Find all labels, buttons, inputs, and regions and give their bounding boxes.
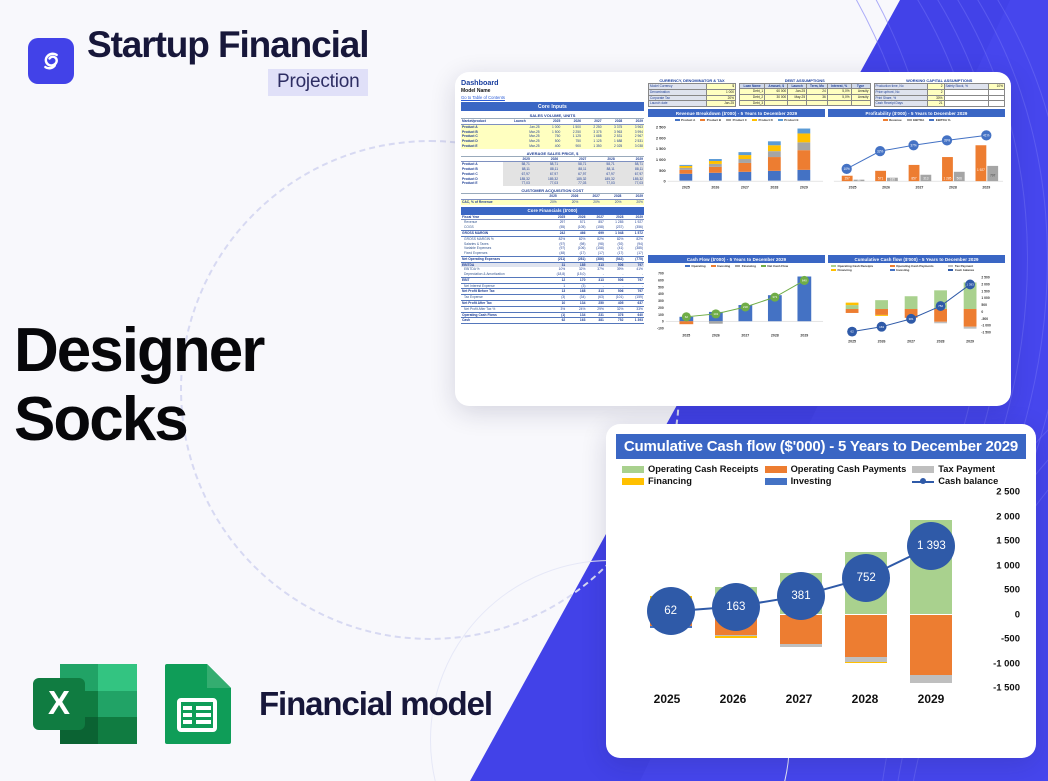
x-tick-label: 2027 [766, 692, 832, 706]
y-tick: 1 500 [966, 536, 1020, 547]
svg-text:62: 62 [850, 330, 854, 334]
svg-text:10%: 10% [844, 167, 850, 171]
microsoft-excel-icon: X [31, 662, 139, 746]
chart-legend: Operating Cash Receipts Operating Cash P… [616, 459, 1026, 490]
y-tick: 1 000 [966, 560, 1020, 571]
legend-item-tax-payment: Tax Payment [912, 464, 1020, 474]
svg-text:500: 500 [981, 303, 987, 307]
svg-text:313: 313 [923, 177, 928, 181]
table-row: Product E77,0377,0377,0377,0377,03 [461, 181, 644, 186]
dashboard-title: Dashboard [461, 78, 644, 87]
y-tick: 500 [966, 585, 1020, 596]
y-tick: 0 [966, 609, 1020, 620]
data-point-bubble: 381 [777, 572, 825, 620]
data-point-bubble: 752 [842, 554, 890, 602]
legend-label: Financing [648, 476, 692, 486]
svg-text:-1 000: -1 000 [981, 324, 991, 328]
dashboard-right-column: CURRENCY, DENOMINATOR & TAX Model Curren… [648, 78, 1005, 402]
svg-text:381: 381 [909, 317, 914, 321]
svg-text:371: 371 [772, 295, 777, 299]
y-tick: 2 000 [966, 511, 1020, 522]
svg-text:2029: 2029 [800, 186, 808, 190]
legend-item-operating-cash-payments: Operating Cash Payments [765, 464, 907, 474]
table-row: Launch dateJan-25 [649, 101, 736, 107]
plot-inner: 621633817521 393 [638, 492, 964, 688]
chart-plot-area: 2 5002 0001 5001 0005000-500-1 000-1 500… [620, 492, 1026, 688]
svg-text:62: 62 [685, 315, 689, 319]
svg-text:2 500: 2 500 [656, 125, 667, 130]
svg-text:2025: 2025 [682, 186, 690, 190]
svg-text:41%: 41% [983, 134, 989, 138]
legend-item-cash-balance: Cash balance [912, 476, 1020, 486]
table-row: Cash Receipt Days21 [874, 101, 1005, 107]
svg-text:39%: 39% [944, 139, 950, 143]
svg-text:37%: 37% [910, 144, 916, 148]
working-capital-assumptions: WORKING CAPITAL ASSUMPTIONS Production t… [874, 78, 1006, 107]
legend-label: Cash balance [938, 476, 998, 486]
x-axis-labels: 20252026202720282029 [634, 692, 1026, 706]
svg-text:506: 506 [957, 177, 962, 181]
google-sheets-icon [161, 662, 233, 746]
sales-volume-table: Market/product Launch 2025 2026 2027 202… [461, 119, 644, 149]
svg-text:2026: 2026 [878, 340, 886, 344]
page-title-line2: Socks [14, 385, 263, 454]
y-tick: -1 500 [966, 683, 1020, 694]
svg-text:2028: 2028 [949, 186, 957, 190]
legend-label: Operating Cash Receipts [648, 464, 759, 474]
svg-text:2028: 2028 [771, 334, 779, 338]
svg-text:2029: 2029 [966, 340, 974, 344]
sheets-glyph [161, 662, 233, 746]
x-tick-label: 2026 [700, 692, 766, 706]
page-title-line1: Designer [14, 316, 263, 385]
svg-text:1 927: 1 927 [977, 168, 985, 172]
table-of-contents-link[interactable]: Go to Table of Contents [461, 95, 644, 100]
revenue-breakdown-plot: 2 5002 0001 500 1 0005000 [648, 123, 825, 197]
svg-text:600: 600 [658, 279, 664, 283]
svg-text:2025: 2025 [848, 340, 856, 344]
svg-text:2 000: 2 000 [656, 136, 667, 141]
dashboard-screenshot-card[interactable]: Dashboard Model Name Go to Table of Cont… [455, 72, 1011, 406]
chart-title: Cumulative Cash flow ($'000) - 5 Years t… [616, 434, 1026, 459]
svg-text:300: 300 [658, 299, 664, 303]
assumptions-row: CURRENCY, DENOMINATOR & TAX Model Curren… [648, 78, 1005, 107]
legend-label: Investing [791, 476, 832, 486]
svg-text:752: 752 [938, 304, 943, 308]
legend-item-operating-cash-receipts: Operating Cash Receipts [622, 464, 759, 474]
svg-text:100: 100 [658, 313, 664, 317]
table-row: CAC, % of Revenue20%20%20%20%20% [461, 199, 644, 204]
mini-chart-revenue-breakdown: Revenue Breakdown ($'000) - 5 Years to D… [648, 109, 825, 252]
excel-glyph: X [31, 662, 139, 746]
svg-text:2026: 2026 [712, 334, 720, 338]
legend-label: Operating Cash Payments [791, 464, 907, 474]
svg-text:1 285: 1 285 [944, 177, 952, 181]
svg-text:0: 0 [664, 179, 667, 184]
x-tick-label: 2028 [832, 692, 898, 706]
mini-chart-cash-flow: Cash Flow ($'000) - 5 Years to December … [648, 255, 825, 402]
avg-price-table: 2025 2026 2027 2028 2029 Product A58,715… [461, 157, 644, 187]
debt-assumptions: DEBT ASSUMPTIONS Loan Name Amount, $ Lau… [739, 78, 871, 107]
cumulative-cash-flow-plot: 2 5002 0001 500 1 0005000 -500-1 000-1 5… [828, 273, 1005, 347]
table-row: Cash621633817521 393 [461, 318, 644, 324]
infinity-swirl-icon [28, 38, 74, 84]
svg-text:1 393: 1 393 [966, 283, 974, 287]
brand-logo: Startup Financial Projection [28, 26, 368, 96]
cac-table: 2025 2026 2027 2028 2029 CAC, % of Reven… [461, 194, 644, 205]
svg-text:1 500: 1 500 [981, 289, 989, 293]
svg-text:101: 101 [713, 312, 718, 316]
currency-assumptions: CURRENCY, DENOMINATOR & TAX Model Curren… [648, 78, 736, 107]
y-tick: 2 500 [966, 487, 1020, 498]
svg-text:700: 700 [658, 272, 664, 276]
svg-text:2026: 2026 [882, 186, 890, 190]
core-financials-band: Core Financials ($'000) [461, 207, 644, 215]
svg-text:500: 500 [659, 168, 666, 173]
svg-text:2 500: 2 500 [981, 276, 989, 280]
brand-subtitle: Projection [268, 69, 369, 96]
core-inputs-band: Core Inputs [461, 102, 644, 111]
x-tick-label: 2029 [898, 692, 964, 706]
svg-text:200: 200 [658, 306, 664, 310]
y-tick: -500 [966, 634, 1020, 645]
table-row: Debt_3 [740, 100, 871, 106]
svg-text:857: 857 [911, 177, 916, 181]
working-capital-table: Production time, No2Safety Stock, %10% P… [874, 83, 1006, 107]
svg-text:2 000: 2 000 [981, 283, 989, 287]
svg-text:32%: 32% [877, 150, 883, 154]
x-tick-label: 2025 [634, 692, 700, 706]
page-title: Designer Socks [14, 316, 263, 455]
mini-chart-cumulative-cash-flow: Cumulative Cash flow ($'000) - 5 Years t… [828, 255, 1005, 402]
cumulative-cashflow-chart-card[interactable]: Cumulative Cash flow ($'000) - 5 Years t… [606, 424, 1036, 758]
svg-text:2027: 2027 [741, 334, 749, 338]
core-financials-table: Fiscal Year20252026202720282029Revenue29… [461, 215, 644, 324]
svg-text:640: 640 [802, 279, 807, 283]
svg-text:400: 400 [658, 292, 664, 296]
mini-charts-grid: Revenue Breakdown ($'000) - 5 Years to D… [648, 109, 1005, 402]
svg-text:2027: 2027 [916, 186, 924, 190]
svg-text:X: X [48, 684, 70, 721]
table-row: Product EMar-254009001 3502 0253 038 [461, 144, 644, 149]
dashboard-left-column: Dashboard Model Name Go to Table of Cont… [461, 78, 644, 402]
svg-text:-1 500: -1 500 [981, 331, 991, 335]
y-tick: -1 000 [966, 658, 1020, 669]
mini-legend: Operating Cash Receipts Operating Cash P… [828, 263, 1005, 273]
currency-table: Model Currency$ Denomination1 000 Corpor… [648, 83, 736, 107]
svg-text:1 000: 1 000 [656, 157, 667, 162]
mini-chart-profitability: Profitability ($'000) - 5 Years to Decem… [828, 109, 1005, 252]
svg-text:0: 0 [981, 310, 983, 314]
svg-text:500: 500 [658, 285, 664, 289]
svg-text:2027: 2027 [741, 186, 749, 190]
svg-text:2029: 2029 [800, 334, 808, 338]
profitability-plot: 29731 571185 857313 1 285506 1 927797 [828, 123, 1005, 197]
svg-text:2027: 2027 [907, 340, 915, 344]
svg-text:2028: 2028 [937, 340, 945, 344]
svg-text:797: 797 [990, 174, 995, 178]
svg-text:218: 218 [743, 305, 748, 309]
legend-item-investing: Investing [765, 476, 907, 486]
svg-text:297: 297 [845, 177, 850, 181]
banner-stage: Startup Financial Projection Designer So… [0, 0, 1048, 781]
svg-text:185: 185 [890, 178, 895, 182]
data-point-bubble: 62 [647, 587, 695, 635]
infinity-swirl-glyph [36, 46, 66, 76]
svg-text:2025: 2025 [849, 186, 857, 190]
svg-text:0: 0 [662, 320, 664, 324]
svg-text:-100: -100 [657, 327, 664, 331]
svg-text:2025: 2025 [682, 334, 690, 338]
svg-text:2029: 2029 [982, 186, 990, 190]
brand-title: Startup Financial [87, 26, 368, 64]
dashboard-content: Dashboard Model Name Go to Table of Cont… [461, 78, 1005, 402]
svg-text:2028: 2028 [770, 186, 778, 190]
data-point-bubble: 163 [712, 583, 760, 631]
svg-text:1 500: 1 500 [656, 146, 667, 151]
footer-label: Financial model [259, 685, 492, 723]
legend-label: Tax Payment [938, 464, 995, 474]
cash-flow-plot: 700600500400 3002001000-100 [648, 269, 825, 343]
footer-formats: X Financial model [31, 662, 492, 746]
debt-table: Loan Name Amount, $ Launch Term, Mo Inte… [739, 83, 871, 106]
svg-text:571: 571 [878, 177, 883, 181]
svg-text:2026: 2026 [711, 186, 719, 190]
dashboard-model-name: Model Name [461, 88, 644, 94]
svg-text:31: 31 [857, 178, 861, 182]
legend-item-financing: Financing [622, 476, 759, 486]
svg-text:1 000: 1 000 [981, 296, 989, 300]
svg-text:-500: -500 [981, 317, 988, 321]
svg-text:163: 163 [879, 325, 884, 329]
